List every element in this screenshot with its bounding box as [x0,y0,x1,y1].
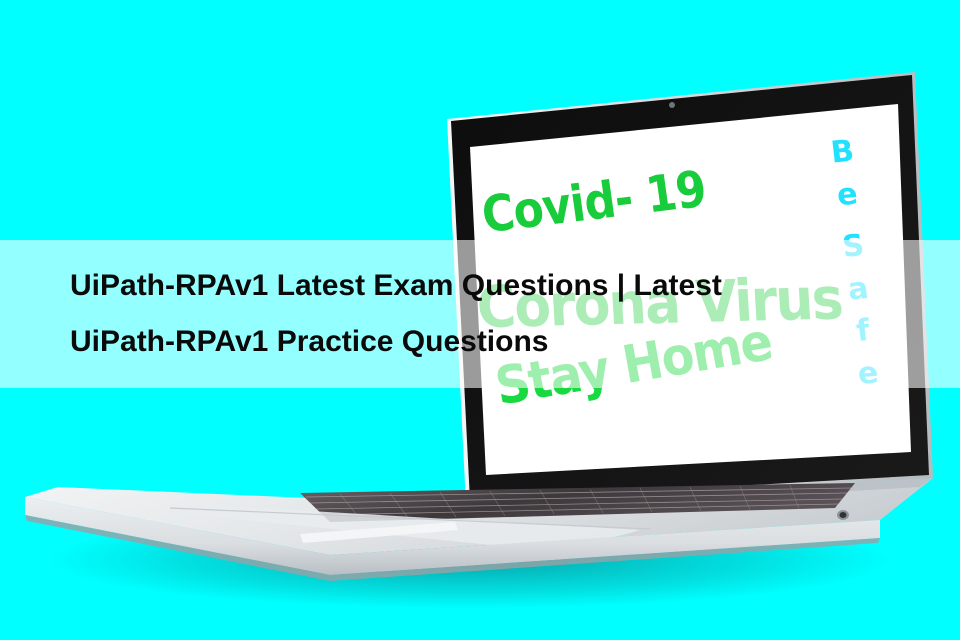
webcam-dot [669,102,675,108]
laptop-side-port-hole [840,512,847,518]
page-title: UiPath-RPAv1 Latest Exam Questions | Lat… [70,258,950,370]
page-title-line-2: UiPath-RPAv1 Practice Questions [70,314,950,370]
page-title-line-1: UiPath-RPAv1 Latest Exam Questions | Lat… [70,258,950,314]
screenshot-canvas: Covid- 19 Corona Virus Stay Home B e S a… [0,0,960,640]
